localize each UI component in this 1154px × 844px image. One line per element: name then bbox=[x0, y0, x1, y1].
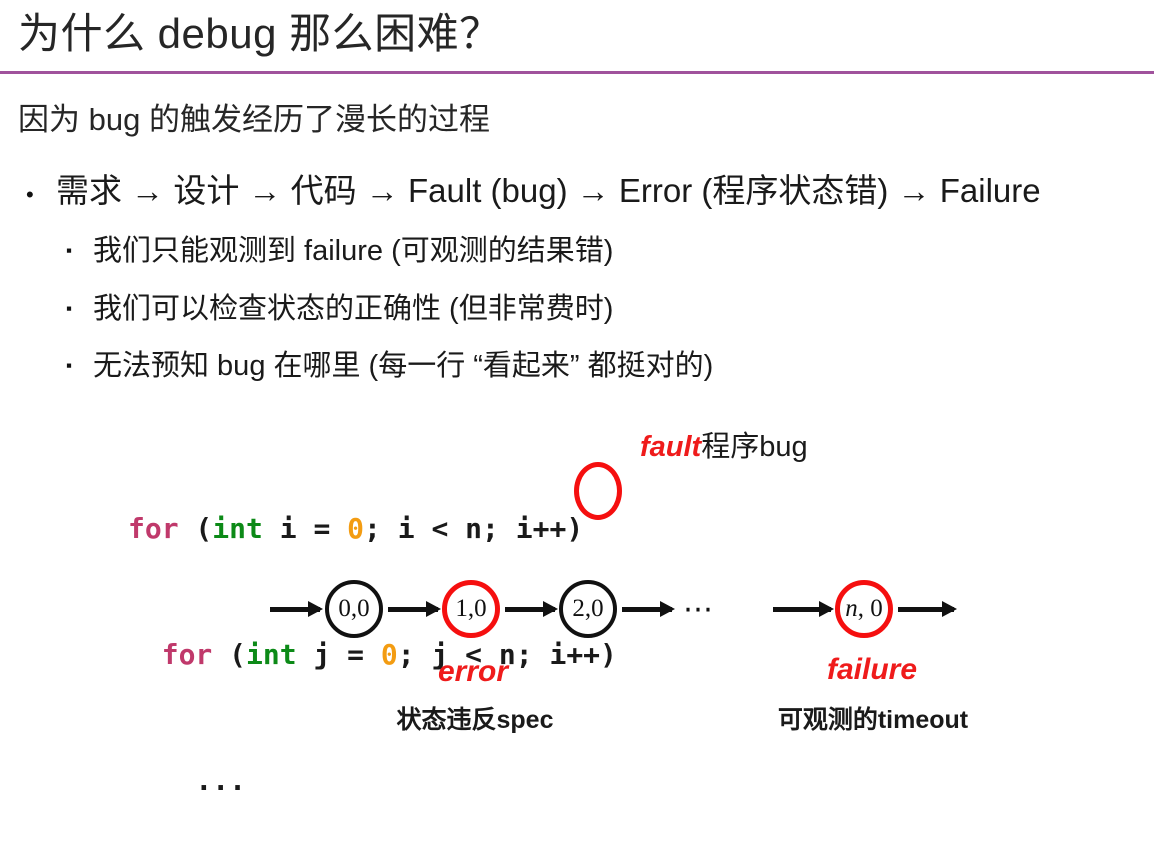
code-keyword: for bbox=[128, 512, 179, 545]
page-title: 为什么 debug 那么困难？ bbox=[18, 6, 502, 62]
bullet-level2-observe-failure: ▪ 我们只能观测到 failure (可观测的结果错) bbox=[66, 230, 613, 276]
state-node-label-rest: , 0 bbox=[858, 595, 883, 623]
arrow-state1-to-state2 bbox=[505, 607, 555, 612]
state-node-2-0: 2,0 bbox=[559, 580, 617, 638]
state-node-label: 2,0 bbox=[572, 595, 603, 623]
state-node-label: 1,0 bbox=[455, 595, 486, 623]
subtitle-text: 因为 bug 的触发经历了漫长的过程 bbox=[18, 99, 490, 141]
code-type: int bbox=[212, 512, 263, 545]
failure-label: failure bbox=[812, 653, 932, 687]
fault-highlight-circle bbox=[574, 462, 622, 520]
fault-annotation: fault程序bug bbox=[640, 428, 808, 466]
state-node-label-variable: n bbox=[845, 595, 858, 623]
bullet-square-icon: ▪ bbox=[66, 230, 93, 272]
code-line-outer-for: for (int i = 0; i < n; i++) bbox=[128, 508, 617, 550]
code-plain: ; i < n; i++) bbox=[364, 512, 583, 545]
bullet-level2-check-state: ▪ 我们可以检查状态的正确性 (但非常费时) bbox=[66, 288, 613, 334]
arrow-out-of-state-n bbox=[898, 607, 954, 612]
bullet-square-icon: ▪ bbox=[66, 288, 93, 330]
slide-header: 为什么 debug 那么困难？ bbox=[0, 0, 1154, 76]
bullet-square-icon: ▪ bbox=[66, 345, 93, 387]
code-plain: ( bbox=[179, 512, 213, 545]
fault-annotation-emphasis: fault bbox=[640, 431, 701, 463]
code-keyword: for bbox=[162, 638, 213, 671]
bullet-dot-icon: • bbox=[26, 172, 56, 218]
bullet-level2-unknown-bug: ▪ 无法预知 bug 在哪里 (每一行 “看起来” 都挺对的) bbox=[66, 345, 713, 391]
code-plain: i = bbox=[263, 512, 347, 545]
code-plain: ( bbox=[212, 638, 246, 671]
bullet-level2-label: 无法预知 bug 在哪里 (每一行 “看起来” 都挺对的) bbox=[93, 345, 713, 387]
arrow-into-state-n bbox=[773, 607, 831, 612]
bullet-level2-label: 我们可以检查状态的正确性 (但非常费时) bbox=[93, 288, 613, 330]
error-caption: 状态违反spec bbox=[380, 700, 570, 736]
state-node-1-0: 1,0 bbox=[442, 580, 500, 638]
bullet-level1-pipeline: • 需求 → 设计 → 代码 → Fault (bug) → Error (程序… bbox=[26, 168, 1041, 218]
error-label: error bbox=[418, 655, 528, 689]
fault-annotation-chinese: 程序bug bbox=[701, 431, 807, 463]
arrow-into-state-0 bbox=[270, 607, 320, 612]
state-node-0-0: 0,0 bbox=[325, 580, 383, 638]
state-node-n-0: n, 0 bbox=[835, 580, 893, 638]
bullet-level1-label: 需求 → 设计 → 代码 → Fault (bug) → Error (程序状态… bbox=[56, 168, 1041, 214]
arrow-out-of-state2 bbox=[622, 607, 672, 612]
code-indent bbox=[128, 638, 162, 671]
arrow-state0-to-state1 bbox=[388, 607, 438, 612]
code-line-ellipsis: ... bbox=[128, 760, 617, 802]
title-divider bbox=[0, 71, 1154, 74]
diagram-ellipsis: ⋯ bbox=[683, 592, 716, 627]
code-number: 0 bbox=[347, 512, 364, 545]
failure-caption: 可观测的timeout bbox=[768, 700, 978, 736]
state-node-label: 0,0 bbox=[338, 595, 369, 623]
bullet-level2-label: 我们只能观测到 failure (可观测的结果错) bbox=[93, 230, 613, 272]
